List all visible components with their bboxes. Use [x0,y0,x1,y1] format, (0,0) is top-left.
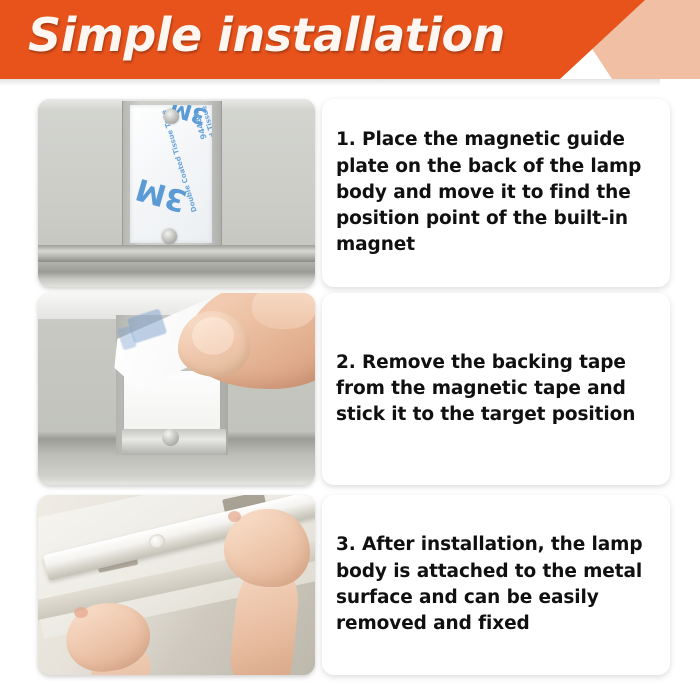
step-1-text-card: 1. Place the magnetic guide plate on the… [322,99,670,287]
right-hand-fingernail [228,511,241,522]
step-3-text-card: 3. After installation, the lamp body is … [322,495,670,675]
step-row-2: 2. Remove the backing tape from the magn… [0,293,700,485]
step-row-1: 3M 3M 9448A Double Coated Tissue Tape Do… [0,99,700,287]
step-2-text-card: 2. Remove the backing tape from the magn… [322,293,670,485]
banner-drop-shadow [0,79,660,86]
page-title: Simple installation [28,8,505,62]
step-1-description: 1. Place the magnetic guide plate on the… [322,127,670,258]
step-2-photo [38,293,315,485]
step-2-description: 2. Remove the backing tape from the magn… [322,350,670,429]
step-1-photo: 3M 3M 9448A Double Coated Tissue Tape Do… [38,99,315,287]
thumb-tip [252,293,315,329]
adhesive-tape-label: 3M 3M 9448A Double Coated Tissue Tape Do… [130,105,212,243]
fingernail [192,317,234,355]
step-3-photo [38,495,315,675]
left-hand-fingernail [74,607,88,618]
step-3-description: 3. After installation, the lamp body is … [322,532,670,637]
screw-top-icon [164,109,179,124]
lamp-button-icon [147,533,166,550]
lamp-body-rail [38,245,315,262]
step-row-3: 3. After installation, the lamp body is … [0,495,700,675]
screw-bottom-icon [162,229,177,244]
bracket-screw-icon [162,429,179,446]
header-banner: Simple installation [0,0,700,86]
steps-container: 3M 3M 9448A Double Coated Tissue Tape Do… [0,86,700,686]
